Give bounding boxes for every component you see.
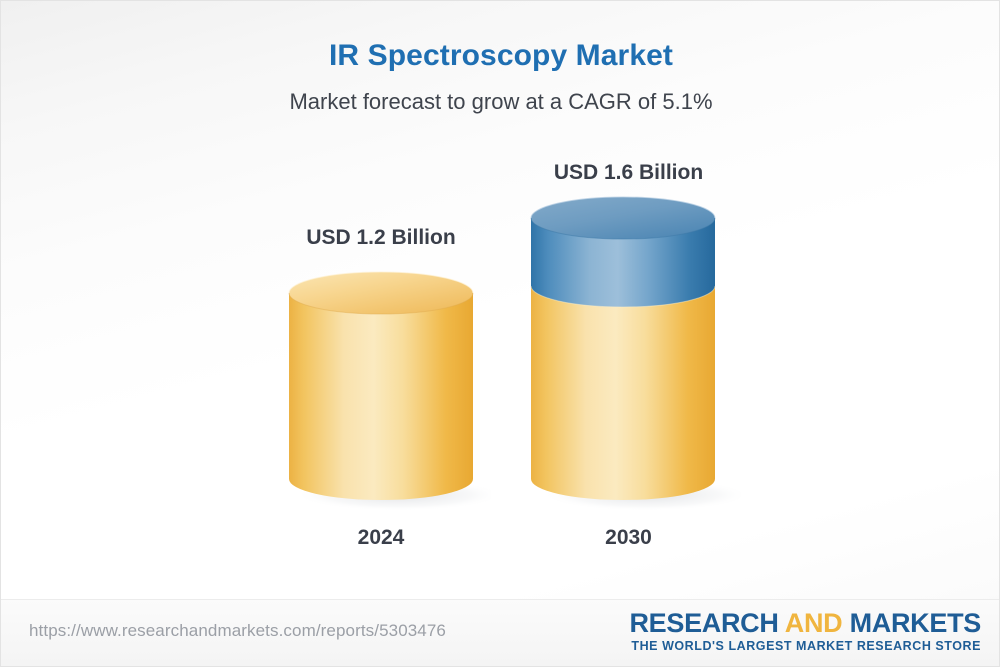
bar-value-label-2030: USD 1.6 Billion — [516, 161, 741, 185]
report-url[interactable]: https://www.researchandmarkets.com/repor… — [29, 621, 446, 641]
category-label-2024: 2024 — [271, 526, 491, 550]
bar-value-label-2024: USD 1.2 Billion — [271, 226, 491, 250]
research-and-markets-logo[interactable]: RESEARCH AND MARKETS THE WORLD'S LARGEST… — [629, 608, 981, 654]
logo-word-and: AND — [785, 608, 843, 638]
bar-group-2030: USD 1.6 Billion — [516, 161, 741, 566]
logo-wordmark: RESEARCH AND MARKETS — [629, 608, 981, 638]
logo-word-markets: MARKETS — [850, 608, 981, 638]
cylinder-2024 — [271, 271, 491, 516]
chart-plot-area: USD 1.2 Billion — [1, 1, 1000, 601]
logo-word-research: RESEARCH — [629, 608, 778, 638]
logo-tagline: THE WORLD'S LARGEST MARKET RESEARCH STOR… — [629, 638, 981, 654]
bar-group-2024: USD 1.2 Billion — [271, 226, 491, 566]
category-label-2030: 2030 — [516, 526, 741, 550]
footer-bar: https://www.researchandmarkets.com/repor… — [1, 599, 1000, 666]
cylinder-2030 — [516, 196, 741, 516]
chart-canvas: IR Spectroscopy Market Market forecast t… — [0, 0, 1000, 667]
